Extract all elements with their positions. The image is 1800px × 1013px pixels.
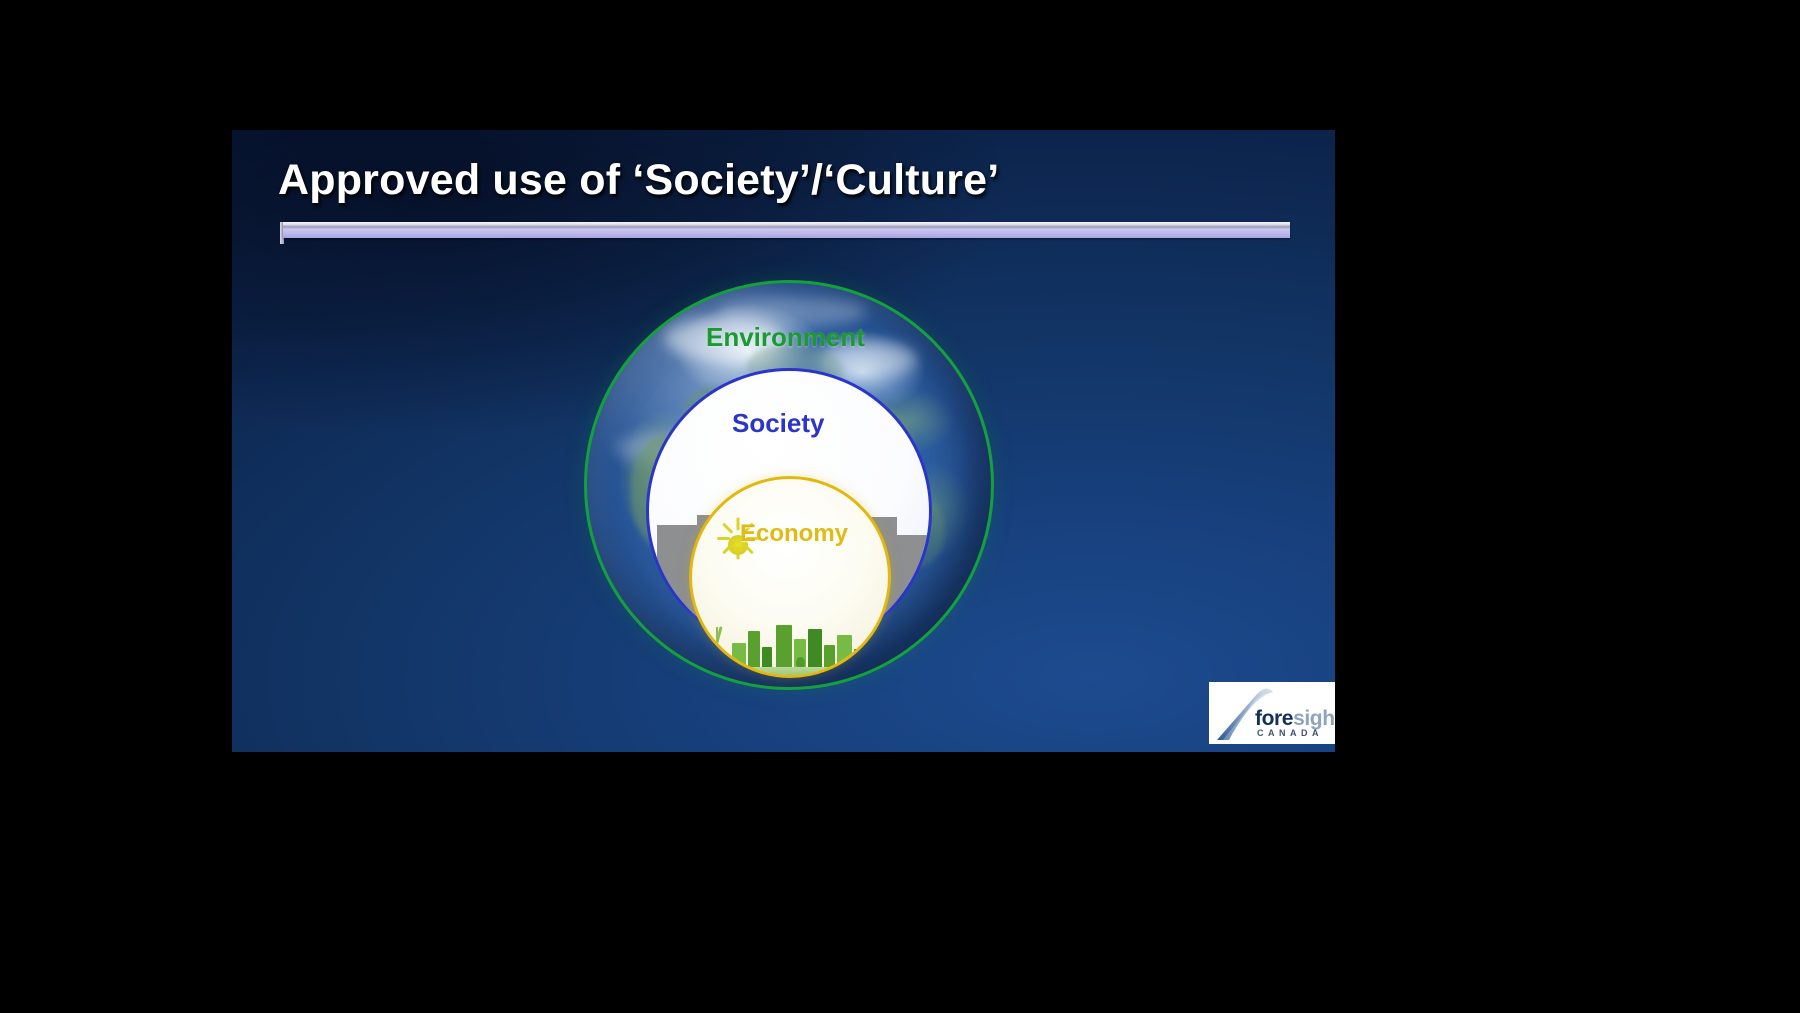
- video-letterbox: Approved use of ‘Society’/‘Culture’: [0, 0, 1800, 1013]
- economy-circle: [689, 476, 891, 678]
- logo-wordmark: foresight: [1255, 708, 1335, 729]
- environment-label: Environment: [706, 322, 865, 353]
- slide-title: Approved use of ‘Society’/‘Culture’: [278, 156, 1298, 205]
- logo-sight-text: sight: [1293, 707, 1335, 730]
- presentation-slide: Approved use of ‘Society’/‘Culture’: [232, 130, 1335, 752]
- green-city-illustration: [692, 619, 888, 675]
- foresight-canada-logo: foresight CANADA: [1209, 682, 1335, 744]
- logo-subtitle: CANADA: [1257, 728, 1323, 738]
- society-label: Society: [732, 408, 825, 439]
- logo-fore-text: fore: [1255, 707, 1293, 730]
- title-divider: [280, 222, 1290, 244]
- divider-bar: [283, 222, 1290, 238]
- sustainability-nested-circles-diagram: Environment Society Economy: [584, 280, 988, 684]
- economy-label: Economy: [740, 520, 848, 548]
